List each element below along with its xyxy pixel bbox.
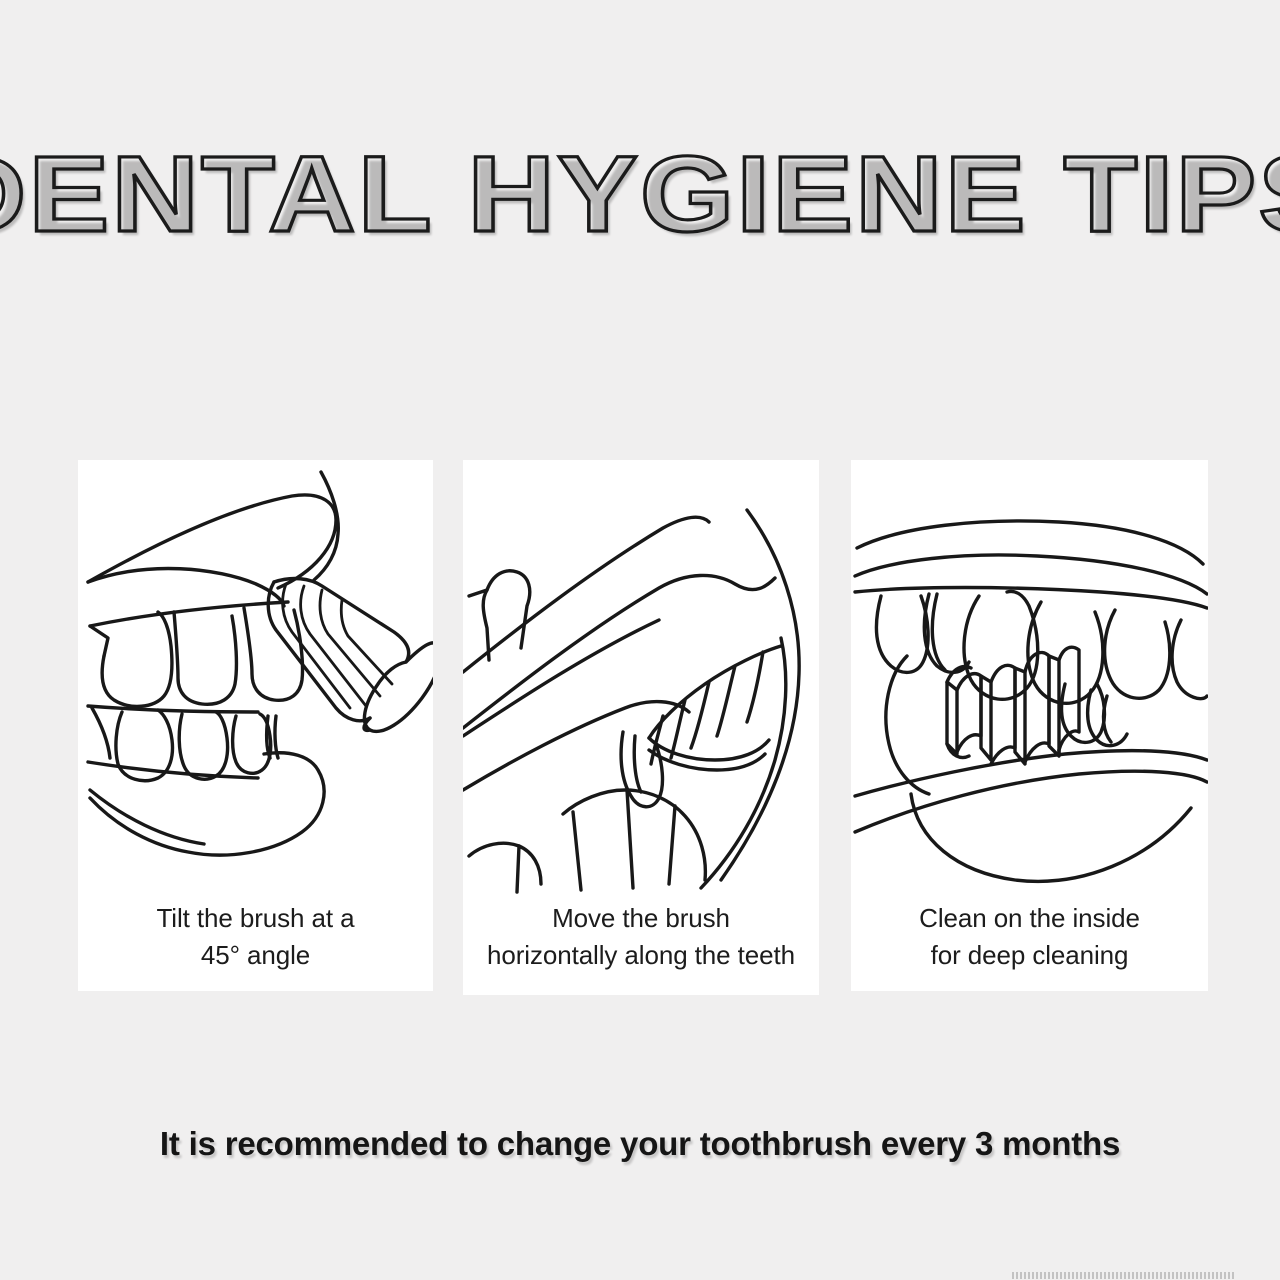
tip-caption-tilt-brush: Tilt the brush at a 45° angle [78,900,433,991]
footer: It is recommended to change your toothbr… [0,1125,1280,1163]
caption-line-1: Move the brush [475,900,807,937]
tip-caption-move-horizontally: Move the brush horizontally along the te… [463,900,819,995]
caption-line-2: 45° angle [90,937,421,974]
tip-card-tilt-brush[interactable]: Tilt the brush at a 45° angle [78,460,433,991]
caption-line-2: horizontally along the teeth [475,937,807,974]
tip-caption-clean-inside: Clean on the inside for deep cleaning [851,900,1208,991]
tip-card-move-horizontally[interactable]: Move the brush horizontally along the te… [463,460,819,995]
caption-line-1: Tilt the brush at a [90,900,421,937]
caption-line-1: Clean on the inside [863,900,1196,937]
illustration-angled-toothbrush [78,460,433,900]
illustration-horizontal-brushing [463,460,819,900]
caption-line-2: for deep cleaning [863,937,1196,974]
footer-recommendation-text: It is recommended to change your toothbr… [160,1125,1120,1163]
cropped-bottom-mark [1012,1272,1234,1279]
header: DENTAL HYGIENE TIPS [0,140,1280,248]
page-title: DENTAL HYGIENE TIPS [0,140,1280,248]
illustration-inside-cleaning [851,460,1208,900]
tips-panel-group: Tilt the brush at a 45° angle [78,460,1208,995]
tip-card-clean-inside[interactable]: Clean on the inside for deep cleaning [851,460,1208,991]
